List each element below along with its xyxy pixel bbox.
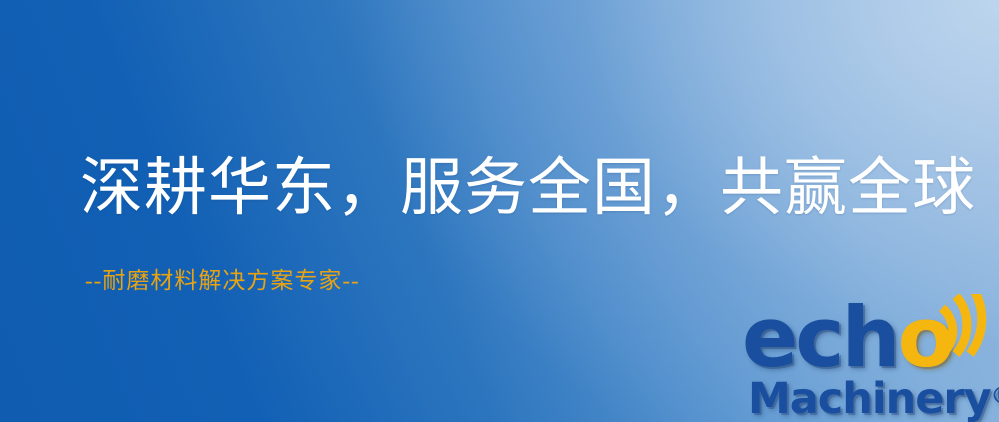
banner-headline: 深耕华东，服务全国，共赢全球 [80,151,976,225]
signal-waves-icon [934,294,999,362]
banner-subtitle: --耐磨材料解决方案专家-- [85,266,360,296]
registered-trademark-icon: ® [991,384,999,409]
company-logo[interactable]: echo Machinery® [742,296,999,422]
promo-banner: 深耕华东，服务全国，共赢全球 --耐磨材料解决方案专家-- echo Machi… [0,0,999,422]
logo-subword: Machinery® [748,373,999,422]
logo-subword-text: Machinery [748,374,991,422]
logo-wordmark-prefix: ech [742,289,898,386]
logo-wordmark: echo [742,296,952,379]
